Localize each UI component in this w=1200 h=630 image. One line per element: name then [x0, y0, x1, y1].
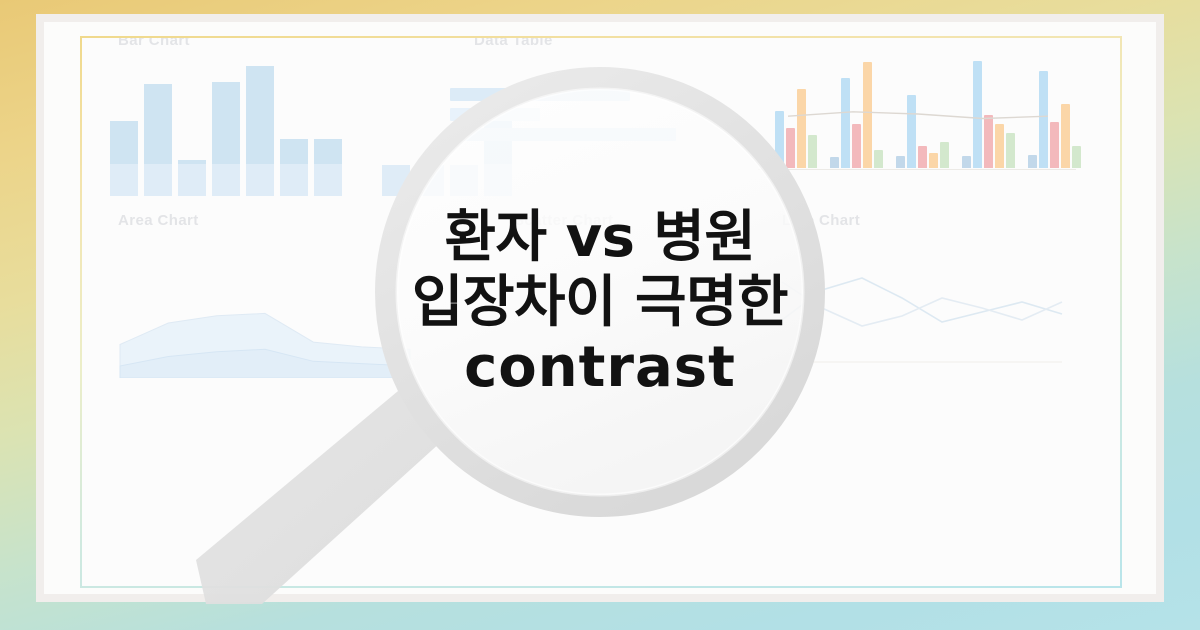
bar-segment-base	[246, 164, 274, 196]
title-line-3: contrast	[300, 336, 900, 401]
grouped-bar	[841, 78, 850, 168]
title-line-1: 환자 vs 병원	[300, 206, 900, 271]
grouped-bar	[863, 62, 872, 168]
grouped-bar	[962, 156, 971, 168]
panel-label-data-table: Data Table	[474, 38, 553, 49]
horizontal-bar	[450, 108, 540, 121]
bar-group	[1028, 71, 1081, 168]
grouped-bar	[808, 135, 817, 168]
bar-group	[764, 89, 817, 168]
bar-segment-base	[450, 165, 478, 196]
bar-segment-top	[110, 121, 138, 164]
grouped-bar	[940, 142, 949, 168]
bar-segment-base	[178, 164, 206, 196]
grouped-bar	[1050, 122, 1059, 168]
grouped-bar	[1039, 71, 1048, 168]
grouped-bar	[896, 156, 905, 168]
bar-segment-base	[484, 164, 512, 196]
horizontal-bar	[450, 128, 676, 141]
bar-group	[830, 62, 883, 168]
grouped-bar	[830, 157, 839, 168]
grouped-bar	[995, 124, 1004, 168]
bar-chart-bar	[144, 84, 172, 196]
bar-segment-top	[246, 66, 274, 164]
bar-group	[896, 95, 949, 168]
grouped-bar	[973, 61, 982, 168]
bar-group	[962, 61, 1015, 168]
grouped-bar	[1061, 104, 1070, 168]
bar-chart-bar	[314, 139, 342, 196]
page-title: 환자 vs 병원 입장차이 극명한 contrast	[300, 206, 900, 401]
panel-label-area-chart: Area Chart	[118, 212, 199, 229]
grouped-bar	[852, 124, 861, 168]
grouped-bar-chart	[764, 58, 1081, 168]
panel-label-bar-chart: Bar Chart	[118, 38, 190, 49]
grouped-bar	[929, 153, 938, 168]
bar-chart-bar	[280, 139, 308, 196]
bar-segment-base	[212, 164, 240, 196]
grouped-bar	[1028, 155, 1037, 168]
grouped-bar	[775, 111, 784, 168]
bar-segment-top	[144, 84, 172, 164]
grouped-bar	[918, 146, 927, 168]
bar-segment-base	[280, 164, 308, 196]
bar-chart-bar	[178, 160, 206, 196]
bar-segment-base	[382, 165, 410, 196]
bar-segment-base	[110, 164, 138, 196]
horizontal-bar	[450, 88, 630, 101]
grouped-bar	[764, 155, 773, 168]
bar-segment-base	[314, 164, 342, 196]
title-line-2: 입장차이 극명한	[300, 271, 900, 336]
grouped-bar	[1072, 146, 1081, 168]
bar-segment-top	[212, 82, 240, 164]
bar-segment-top	[314, 139, 342, 164]
bar-segment-base	[416, 165, 444, 196]
bar-chart-bar	[382, 165, 410, 196]
grouped-bar	[984, 115, 993, 168]
poster-canvas: Bar Chart Data Table Area Chart Scatter …	[0, 0, 1200, 630]
bar-chart-bar	[212, 82, 240, 196]
bar-chart-bar	[246, 66, 274, 196]
bar-segment-top	[280, 139, 308, 164]
grouped-bar	[874, 150, 883, 168]
horizontal-bar-list	[450, 88, 700, 141]
grouped-bar	[797, 89, 806, 168]
bar-chart-bar	[450, 165, 478, 196]
grouped-bar	[1006, 133, 1015, 168]
bar-chart-bar	[110, 121, 138, 196]
grouped-bar-baseline	[758, 169, 1076, 170]
bar-chart-bar	[416, 165, 444, 196]
grouped-bar	[786, 128, 795, 168]
bar-segment-base	[144, 164, 172, 196]
grouped-bar	[907, 95, 916, 168]
